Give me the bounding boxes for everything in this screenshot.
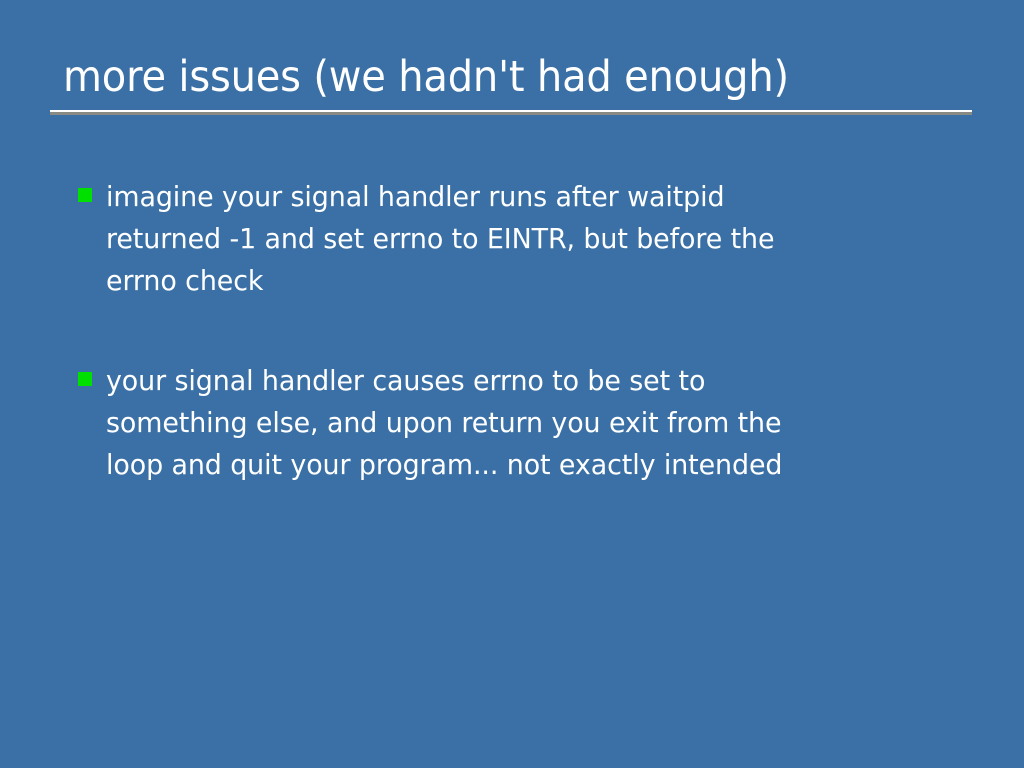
list-item: imagine your signal handler runs after w… [78, 176, 958, 302]
bullet-list: imagine your signal handler runs after w… [78, 176, 958, 486]
green-square-bullet-icon [78, 188, 92, 202]
bullet-line: imagine your signal handler runs after w… [106, 176, 924, 218]
bullet-line: errno check [106, 260, 924, 302]
bullet-text: your signal handler causes errno to be s… [106, 360, 924, 486]
page-title: more issues (we hadn't had enough) [50, 48, 907, 106]
bullet-line: returned -1 and set errno to EINTR, but … [106, 218, 924, 260]
title-underline-rule [50, 110, 972, 115]
list-item: your signal handler causes errno to be s… [78, 360, 958, 486]
bullet-line: something else, and upon return you exit… [106, 402, 924, 444]
slide-canvas: more issues (we hadn't had enough) imagi… [0, 0, 1024, 768]
green-square-bullet-icon [78, 372, 92, 386]
bullet-line: loop and quit your program... not exactl… [106, 444, 924, 486]
title-block: more issues (we hadn't had enough) [50, 48, 972, 106]
title-rule-shadow [50, 112, 972, 115]
bullet-line: your signal handler causes errno to be s… [106, 360, 924, 402]
bullet-text: imagine your signal handler runs after w… [106, 176, 924, 302]
